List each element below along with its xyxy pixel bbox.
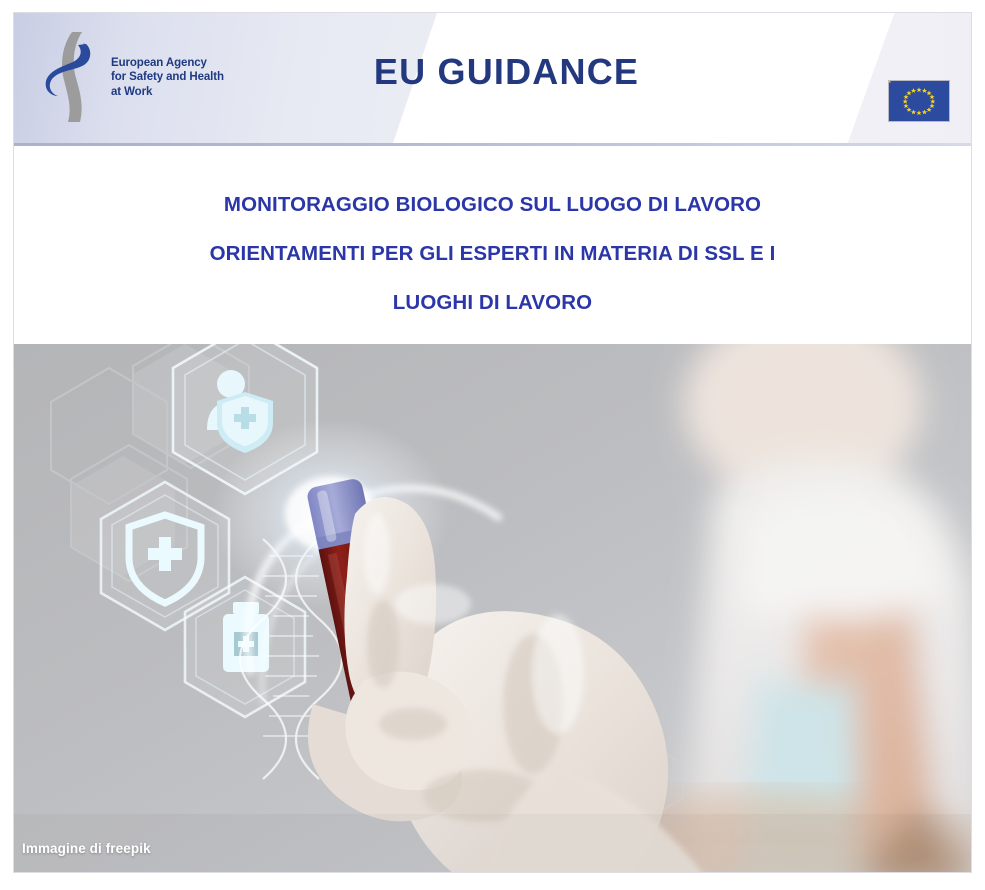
eu-osha-logo: European Agency for Safety and Health at… bbox=[42, 30, 224, 125]
photo-credit: Immagine di freepik bbox=[22, 841, 151, 856]
title-line-3: LUOGHI DI LAVORO bbox=[84, 278, 901, 327]
cover-photo-illustration bbox=[14, 344, 971, 873]
logo-line-3: at Work bbox=[111, 85, 224, 99]
eu-flag-icon bbox=[889, 81, 949, 121]
eu-osha-logo-mark bbox=[42, 30, 104, 125]
eu-osha-logo-text: European Agency for Safety and Health at… bbox=[111, 56, 224, 99]
header-banner: European Agency for Safety and Health at… bbox=[14, 13, 971, 146]
logo-line-1: European Agency bbox=[111, 56, 224, 70]
cover-photo: Immagine di freepik bbox=[14, 344, 971, 873]
title-line-1: MONITORAGGIO BIOLOGICO SUL LUOGO DI LAVO… bbox=[84, 180, 901, 229]
european-union-flag bbox=[888, 80, 950, 122]
logo-line-2: for Safety and Health bbox=[111, 70, 224, 84]
cover-sheet: European Agency for Safety and Health at… bbox=[13, 12, 972, 873]
title-line-2: ORIENTAMENTI PER GLI ESPERTI IN MATERIA … bbox=[84, 229, 901, 278]
cover-page: European Agency for Safety and Health at… bbox=[0, 0, 985, 890]
title-block: MONITORAGGIO BIOLOGICO SUL LUOGO DI LAVO… bbox=[14, 146, 971, 349]
